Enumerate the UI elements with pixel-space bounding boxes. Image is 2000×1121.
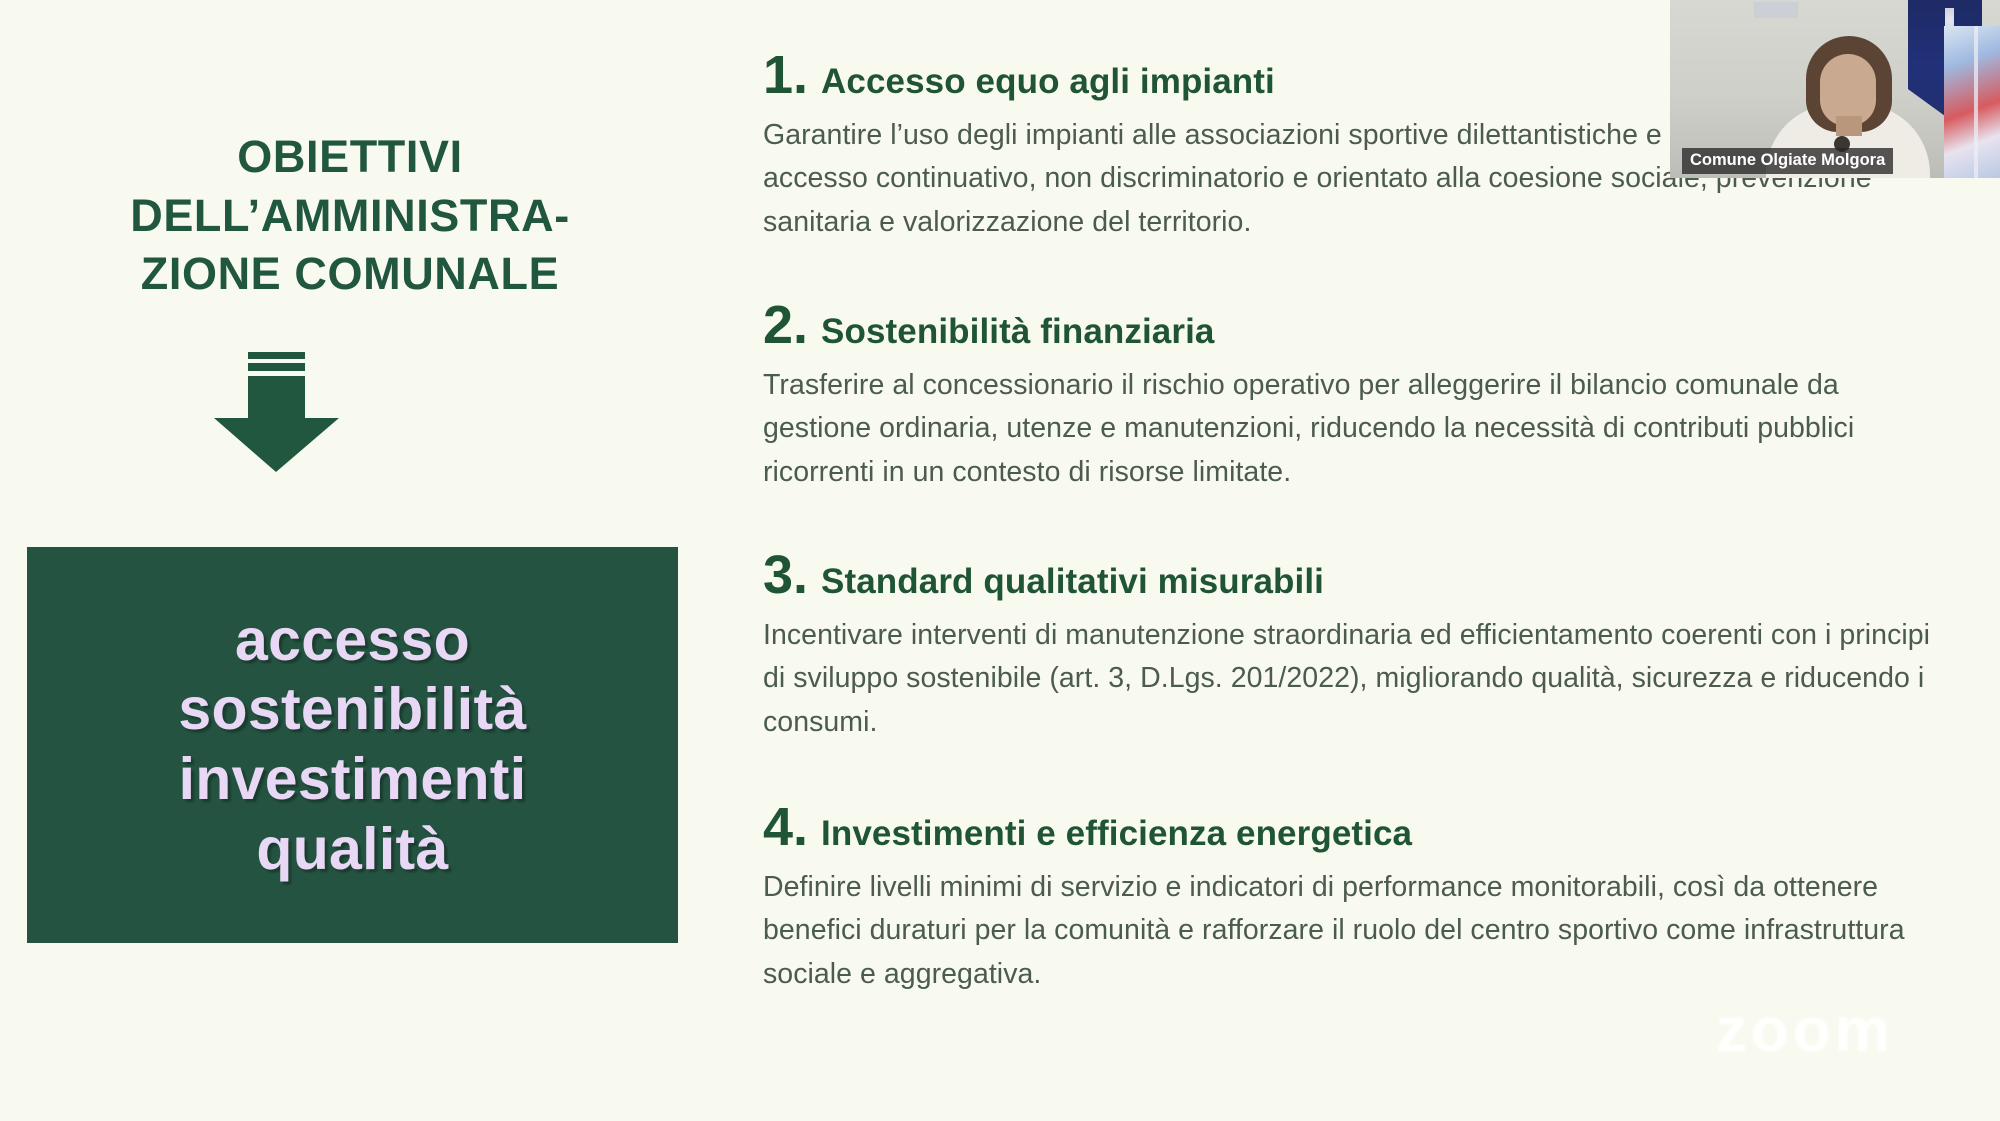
- presentation-slide: OBIETTIVI DELL’AMMINISTRA- ZIONE COMUNAL…: [0, 0, 2000, 1121]
- webcam-wall-poster: [1754, 2, 1798, 18]
- objective-title-4: Investimenti e efficienza energetica: [821, 816, 1412, 851]
- objective-item-4: 4. Investimenti e efficienza energetica …: [763, 800, 1963, 996]
- arrow-shaft: [248, 376, 305, 420]
- keyword-callout-box: accesso sostenibilità investimenti quali…: [27, 547, 678, 943]
- objective-title-3: Standard qualitativi misurabili: [821, 564, 1324, 599]
- zoom-watermark: zoom: [1716, 1000, 1894, 1062]
- page-title-line-2: DELL’AMMINISTRA-: [10, 187, 690, 246]
- arrow-head: [214, 418, 339, 472]
- objective-item-3: 3. Standard qualitativi misurabili Incen…: [763, 548, 1963, 744]
- webcam-stained-glass-window: [1944, 26, 2000, 178]
- objective-body-3: Incentivare interventi di manutenzione s…: [763, 614, 1948, 744]
- objective-heading-3: 3. Standard qualitativi misurabili: [763, 548, 1963, 602]
- webcam-person-neck: [1836, 116, 1862, 136]
- objective-item-2: 2. Sostenibilità finanziaria Trasferire …: [763, 298, 1963, 494]
- participant-name-label: Comune Olgiate Molgora: [1682, 148, 1893, 174]
- page-title-line-1: OBIETTIVI: [10, 128, 690, 187]
- keyword-accesso: accesso: [235, 606, 470, 676]
- arrow-stripe-second: [248, 363, 305, 371]
- objective-title-1: Accesso equo agli impianti: [821, 64, 1275, 99]
- objective-body-4: Definire livelli minimi di servizio e in…: [763, 866, 1948, 996]
- webcam-window-frame: [1974, 26, 1978, 178]
- objective-body-2: Trasferire al concessionario il rischio …: [763, 364, 1948, 494]
- page-title-line-3: ZIONE COMUNALE: [10, 245, 690, 304]
- objective-number-2: 2.: [763, 298, 808, 352]
- arrow-stripe-top: [248, 352, 305, 359]
- down-arrow-icon: [214, 352, 339, 472]
- objective-number-1: 1.: [763, 48, 808, 102]
- webcam-video-tile[interactable]: Comune Olgiate Molgora: [1670, 0, 2000, 178]
- page-title: OBIETTIVI DELL’AMMINISTRA- ZIONE COMUNAL…: [10, 128, 690, 304]
- objective-number-3: 3.: [763, 548, 808, 602]
- objective-number-4: 4.: [763, 800, 808, 854]
- objective-heading-2: 2. Sostenibilità finanziaria: [763, 298, 1963, 352]
- keyword-sostenibilita: sostenibilità: [178, 675, 526, 745]
- keyword-qualita: qualità: [256, 815, 448, 885]
- objective-title-2: Sostenibilità finanziaria: [821, 314, 1214, 349]
- objective-heading-4: 4. Investimenti e efficienza energetica: [763, 800, 1963, 854]
- keyword-investimenti: investimenti: [179, 745, 527, 815]
- left-column: OBIETTIVI DELL’AMMINISTRA- ZIONE COMUNAL…: [0, 0, 700, 1121]
